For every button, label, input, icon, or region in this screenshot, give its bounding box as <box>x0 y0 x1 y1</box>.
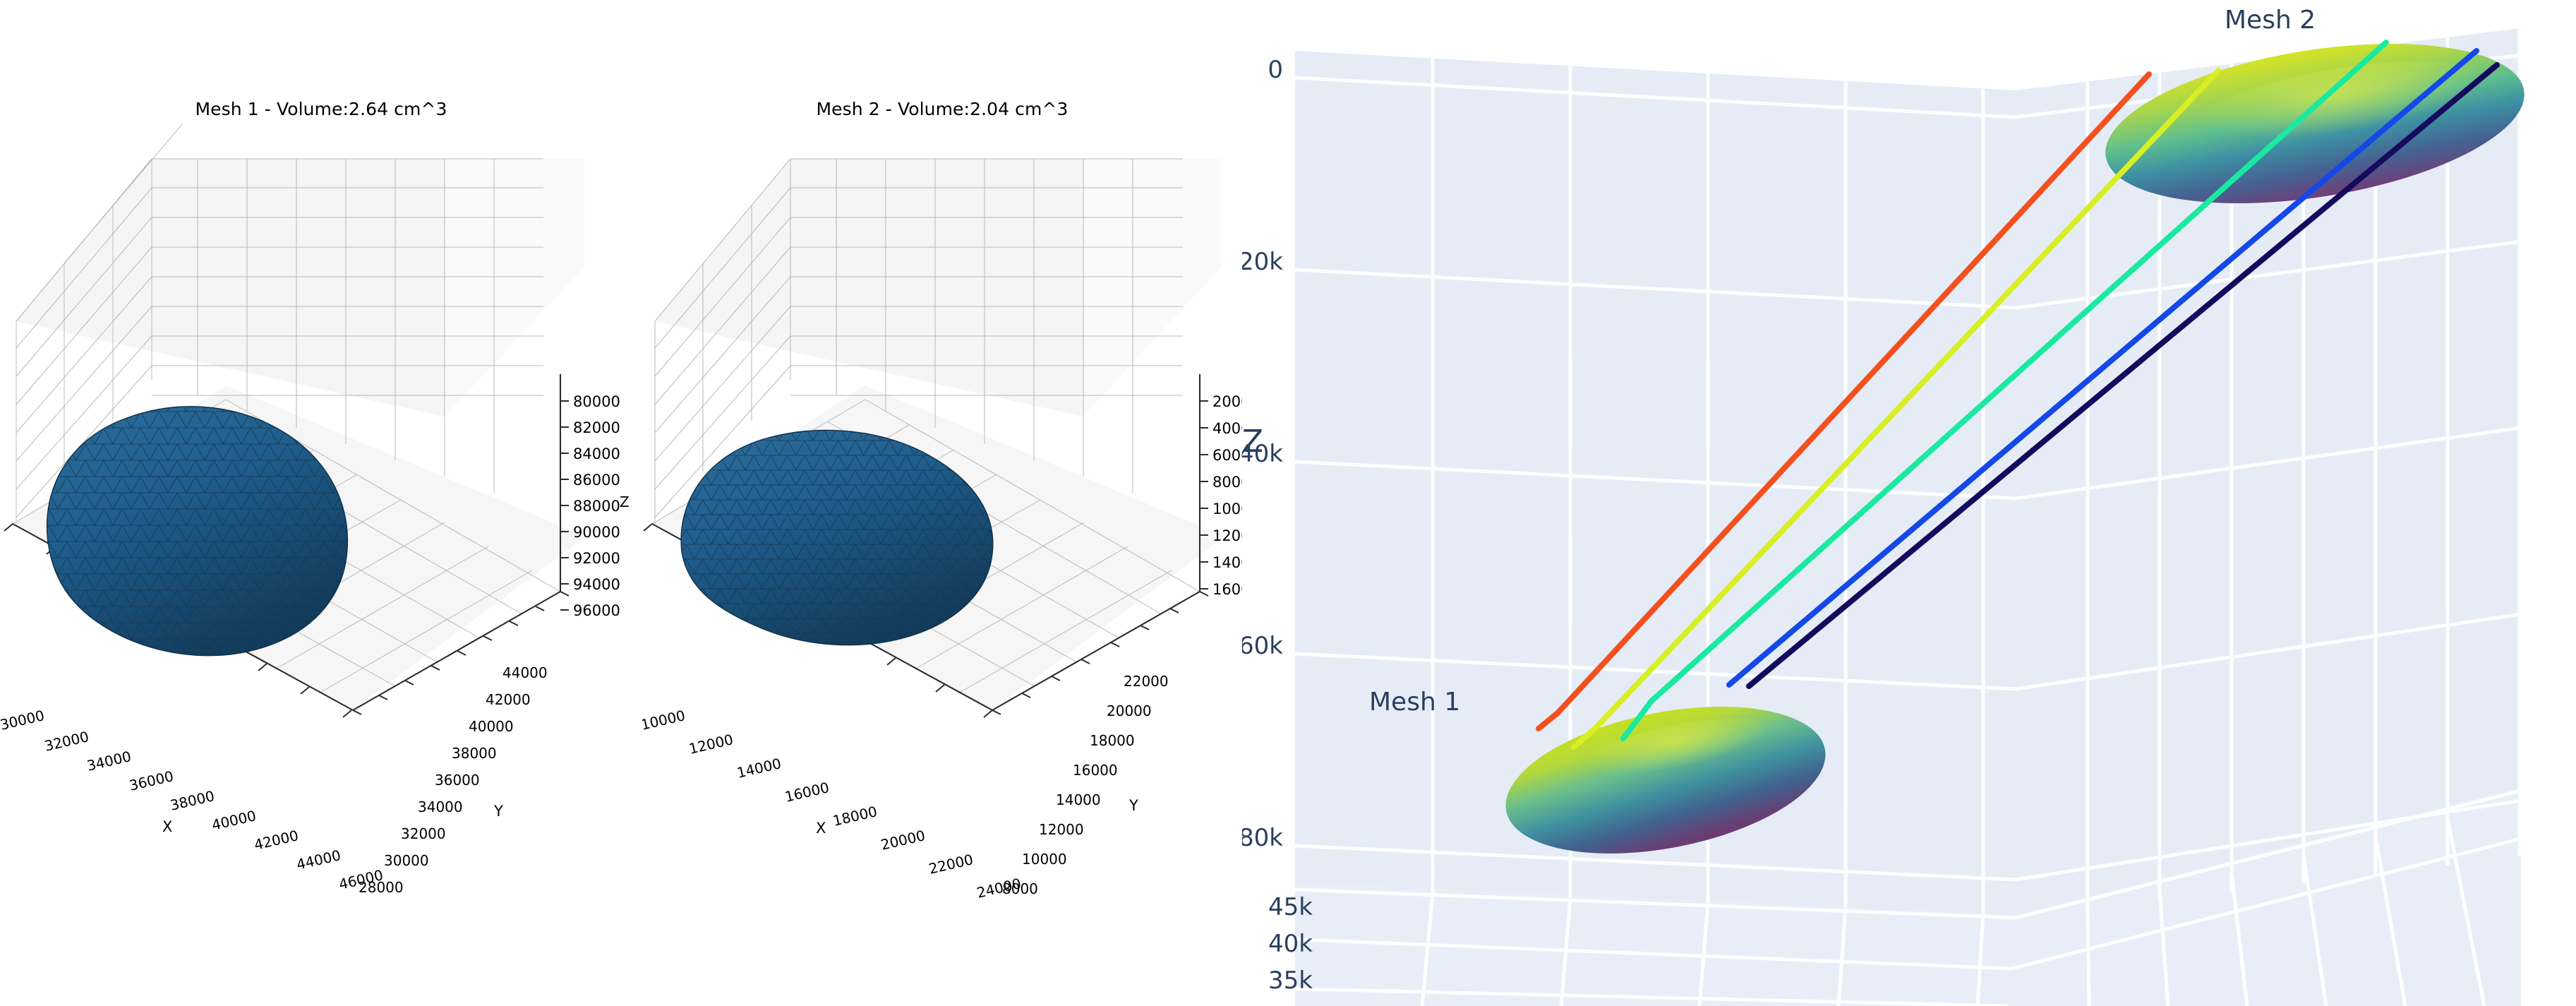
svg-text:12000: 12000 <box>1212 527 1242 544</box>
svg-text:16000: 16000 <box>1073 762 1118 779</box>
mesh2-y-axis-label: Y <box>1128 797 1138 814</box>
svg-text:45k: 45k <box>1268 893 1313 921</box>
svg-text:16000: 16000 <box>783 779 831 806</box>
mesh1-axes3d: 80000 82000 84000 86000 88000 90000 9200… <box>0 0 642 1006</box>
svg-text:14000: 14000 <box>1212 554 1242 571</box>
svg-text:14000: 14000 <box>735 755 783 782</box>
svg-text:90000: 90000 <box>573 524 620 541</box>
svg-text:18000: 18000 <box>831 803 879 830</box>
svg-text:32000: 32000 <box>43 728 90 755</box>
svg-text:4000: 4000 <box>1212 420 1242 437</box>
svg-text:88000: 88000 <box>573 498 620 515</box>
svg-text:36000: 36000 <box>128 767 175 794</box>
svg-text:0: 0 <box>1268 56 1283 84</box>
svg-text:82000: 82000 <box>573 419 620 436</box>
svg-text:84000: 84000 <box>573 445 620 462</box>
plotly-scene[interactable]: 0 −20k −40k −60k −80k Z 45k 40k 35k Mesh… <box>1242 0 2576 1006</box>
svg-text:36000: 36000 <box>435 772 480 789</box>
svg-text:10000: 10000 <box>1212 501 1242 517</box>
svg-text:−20k: −20k <box>1242 248 1283 276</box>
svg-text:40000: 40000 <box>469 718 514 735</box>
mesh1-x-axis-label: X <box>162 818 172 835</box>
svg-text:38000: 38000 <box>452 745 497 762</box>
svg-text:34000: 34000 <box>85 748 133 774</box>
svg-text:8000: 8000 <box>1212 474 1242 491</box>
svg-text:80000: 80000 <box>573 393 620 410</box>
svg-text:20000: 20000 <box>1107 702 1152 719</box>
mesh2-x-ticklabels: 10000 12000 14000 16000 18000 20000 2200… <box>642 707 1023 902</box>
mesh2-z-ticklabels: 2000 4000 6000 8000 10000 12000 14000 16… <box>1212 393 1242 598</box>
svg-text:10000: 10000 <box>1022 851 1067 868</box>
svg-text:32000: 32000 <box>401 825 446 842</box>
mesh2-x-axis-label: X <box>816 820 826 837</box>
mesh2-axes3d: 2000 4000 6000 8000 10000 12000 14000 16… <box>642 0 1242 1006</box>
svg-text:38000: 38000 <box>169 787 216 814</box>
svg-text:20000: 20000 <box>879 827 927 854</box>
svg-text:16000: 16000 <box>1212 581 1242 598</box>
svg-text:44000: 44000 <box>295 846 342 873</box>
svg-text:86000: 86000 <box>573 472 620 489</box>
mesh1-figure-panel: Mesh 1 - Volume:2.64 cm^3 <box>0 0 642 1006</box>
svg-text:18000: 18000 <box>1090 732 1135 749</box>
svg-text:2000: 2000 <box>1212 393 1242 410</box>
svg-text:40000: 40000 <box>210 807 258 834</box>
mesh2-figure-panel: Mesh 2 - Volume:2.04 cm^3 <box>642 0 1242 1006</box>
svg-text:96000: 96000 <box>573 602 620 619</box>
svg-text:−60k: −60k <box>1242 632 1283 660</box>
mesh1-y-axis-label: Y <box>493 803 503 820</box>
mesh2-y-ticklabels: 8000 10000 12000 14000 16000 18000 20000… <box>1002 673 1169 897</box>
svg-text:8000: 8000 <box>1002 880 1038 897</box>
svg-text:94000: 94000 <box>573 576 620 593</box>
plotly-3d-panel[interactable]: 0 −20k −40k −60k −80k Z 45k 40k 35k Mesh… <box>1242 0 2576 1006</box>
svg-text:40k: 40k <box>1268 930 1313 958</box>
svg-text:28000: 28000 <box>359 879 404 896</box>
mesh1-x-ticklabels: 30000 32000 34000 36000 38000 40000 4200… <box>0 707 385 893</box>
svg-text:−80k: −80k <box>1242 824 1283 852</box>
svg-text:22000: 22000 <box>927 851 975 878</box>
svg-text:30000: 30000 <box>384 852 429 869</box>
svg-text:34000: 34000 <box>418 798 463 815</box>
svg-text:22000: 22000 <box>1124 673 1169 690</box>
svg-text:42000: 42000 <box>486 691 531 708</box>
svg-text:44000: 44000 <box>502 664 548 681</box>
svg-text:10000: 10000 <box>642 707 687 733</box>
svg-text:35k: 35k <box>1268 966 1313 995</box>
svg-text:14000: 14000 <box>1056 791 1101 808</box>
svg-text:30000: 30000 <box>0 707 46 733</box>
plotly-mesh1-annotation: Mesh 1 <box>1369 688 1460 717</box>
svg-text:6000: 6000 <box>1212 447 1242 464</box>
svg-text:12000: 12000 <box>687 731 735 758</box>
plotly-mesh2-annotation: Mesh 2 <box>2225 6 2316 35</box>
mesh1-z-ticklabels: 80000 82000 84000 86000 88000 90000 9200… <box>573 393 630 619</box>
plotly-y-ticklabels: 45k 40k 35k <box>1268 893 1313 995</box>
mesh1-z-axis-label: Z <box>620 493 630 510</box>
svg-text:12000: 12000 <box>1039 821 1084 838</box>
svg-text:42000: 42000 <box>253 827 300 854</box>
plotly-z-axis-label: Z <box>1242 424 1263 460</box>
svg-text:92000: 92000 <box>573 550 620 567</box>
mesh2-panes <box>652 159 1225 710</box>
